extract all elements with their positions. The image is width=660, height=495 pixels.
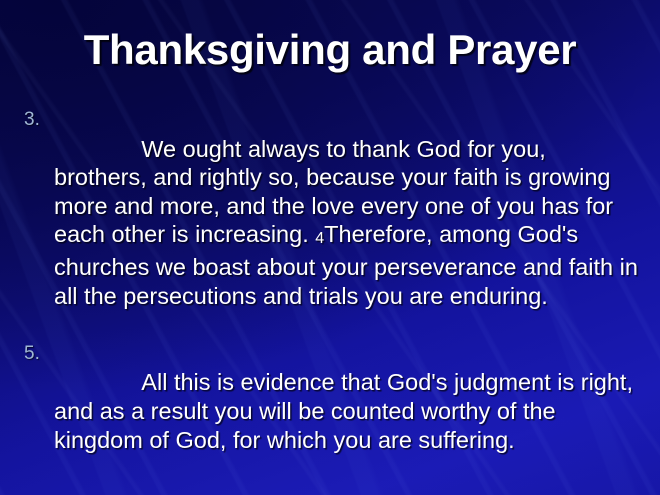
bullet-marker-3: 3. (24, 106, 54, 135)
presentation-slide: Thanksgiving and Prayer 3. We ought alwa… (0, 0, 660, 495)
bullet-marker-5: 5. (24, 340, 54, 369)
bullet-text-verse-3: We ought always to thank God for you, br… (54, 106, 642, 339)
bullet-item-verse-5: 5. All this is evidence that God's judgm… (24, 340, 642, 483)
bullet-text-verse-5: All this is evidence that God's judgment… (54, 340, 642, 483)
verse-5-lead-text: All this is evidence that God's judgment… (54, 369, 640, 452)
slide-title: Thanksgiving and Prayer (0, 28, 660, 72)
bullet-item-verse-3: 3. We ought always to thank God for you,… (24, 106, 642, 339)
slide-content: Thanksgiving and Prayer 3. We ought alwa… (0, 0, 660, 495)
scripture-bullet-list: 3. We ought always to thank God for you,… (24, 106, 642, 483)
verse-number-4: 4 (315, 230, 324, 247)
